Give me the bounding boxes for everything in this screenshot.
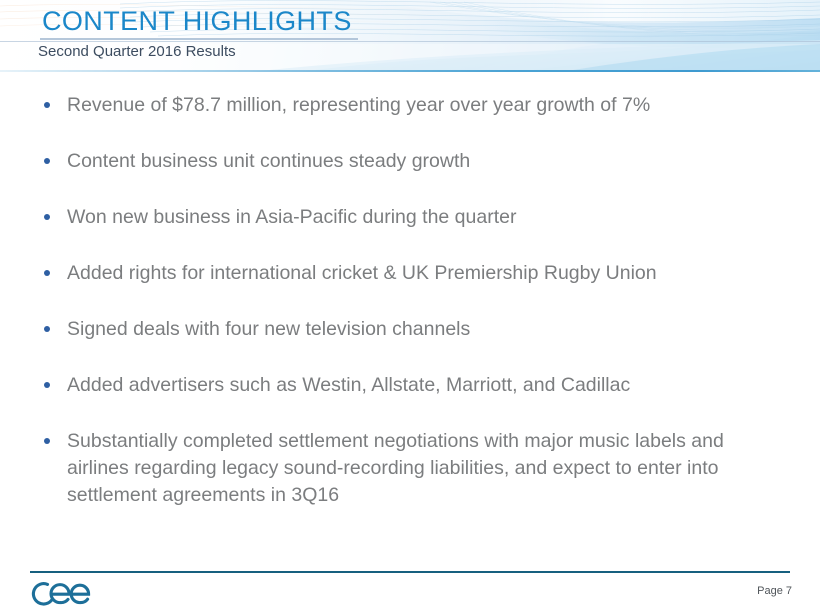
list-item-text: Signed deals with four new television ch…: [67, 316, 470, 343]
bullet-dot-icon: [44, 326, 50, 332]
list-item: Content business unit continues steady g…: [0, 148, 820, 175]
list-item-text: Content business unit continues steady g…: [67, 148, 470, 175]
list-item-text: Revenue of $78.7 million, representing y…: [67, 92, 650, 119]
bullet-dot-icon: [44, 382, 50, 388]
list-item-text: Won new business in Asia-Pacific during …: [67, 204, 516, 231]
gee-logo: [28, 577, 94, 609]
bullet-dot-icon: [44, 270, 50, 276]
presentation-slide: CONTENT HIGHLIGHTS Second Quarter 2016 R…: [0, 0, 820, 615]
list-item-text: Added rights for international cricket &…: [67, 260, 657, 287]
list-item-text: Added advertisers such as Westin, Allsta…: [67, 372, 630, 399]
bullet-dot-icon: [44, 102, 50, 108]
slide-header: CONTENT HIGHLIGHTS Second Quarter 2016 R…: [0, 0, 820, 72]
footer-divider: [30, 571, 790, 573]
list-item: Added rights for international cricket &…: [0, 260, 820, 287]
bullet-dot-icon: [44, 438, 50, 444]
page-title: CONTENT HIGHLIGHTS: [42, 6, 352, 37]
page-subtitle: Second Quarter 2016 Results: [38, 43, 236, 60]
list-item: Added advertisers such as Westin, Allsta…: [0, 372, 820, 399]
header-accent-line: [0, 70, 820, 72]
list-item: Revenue of $78.7 million, representing y…: [0, 92, 820, 119]
list-item: Won new business in Asia-Pacific during …: [0, 204, 820, 231]
list-item: Substantially completed settlement negot…: [0, 428, 820, 509]
bullet-dot-icon: [44, 214, 50, 220]
list-item-text: Substantially completed settlement negot…: [67, 428, 757, 509]
title-underline: [40, 38, 358, 40]
bullet-dot-icon: [44, 158, 50, 164]
list-item: Signed deals with four new television ch…: [0, 316, 820, 343]
bullet-list: Revenue of $78.7 million, representing y…: [0, 92, 820, 538]
page-number: Page 7: [757, 585, 792, 597]
